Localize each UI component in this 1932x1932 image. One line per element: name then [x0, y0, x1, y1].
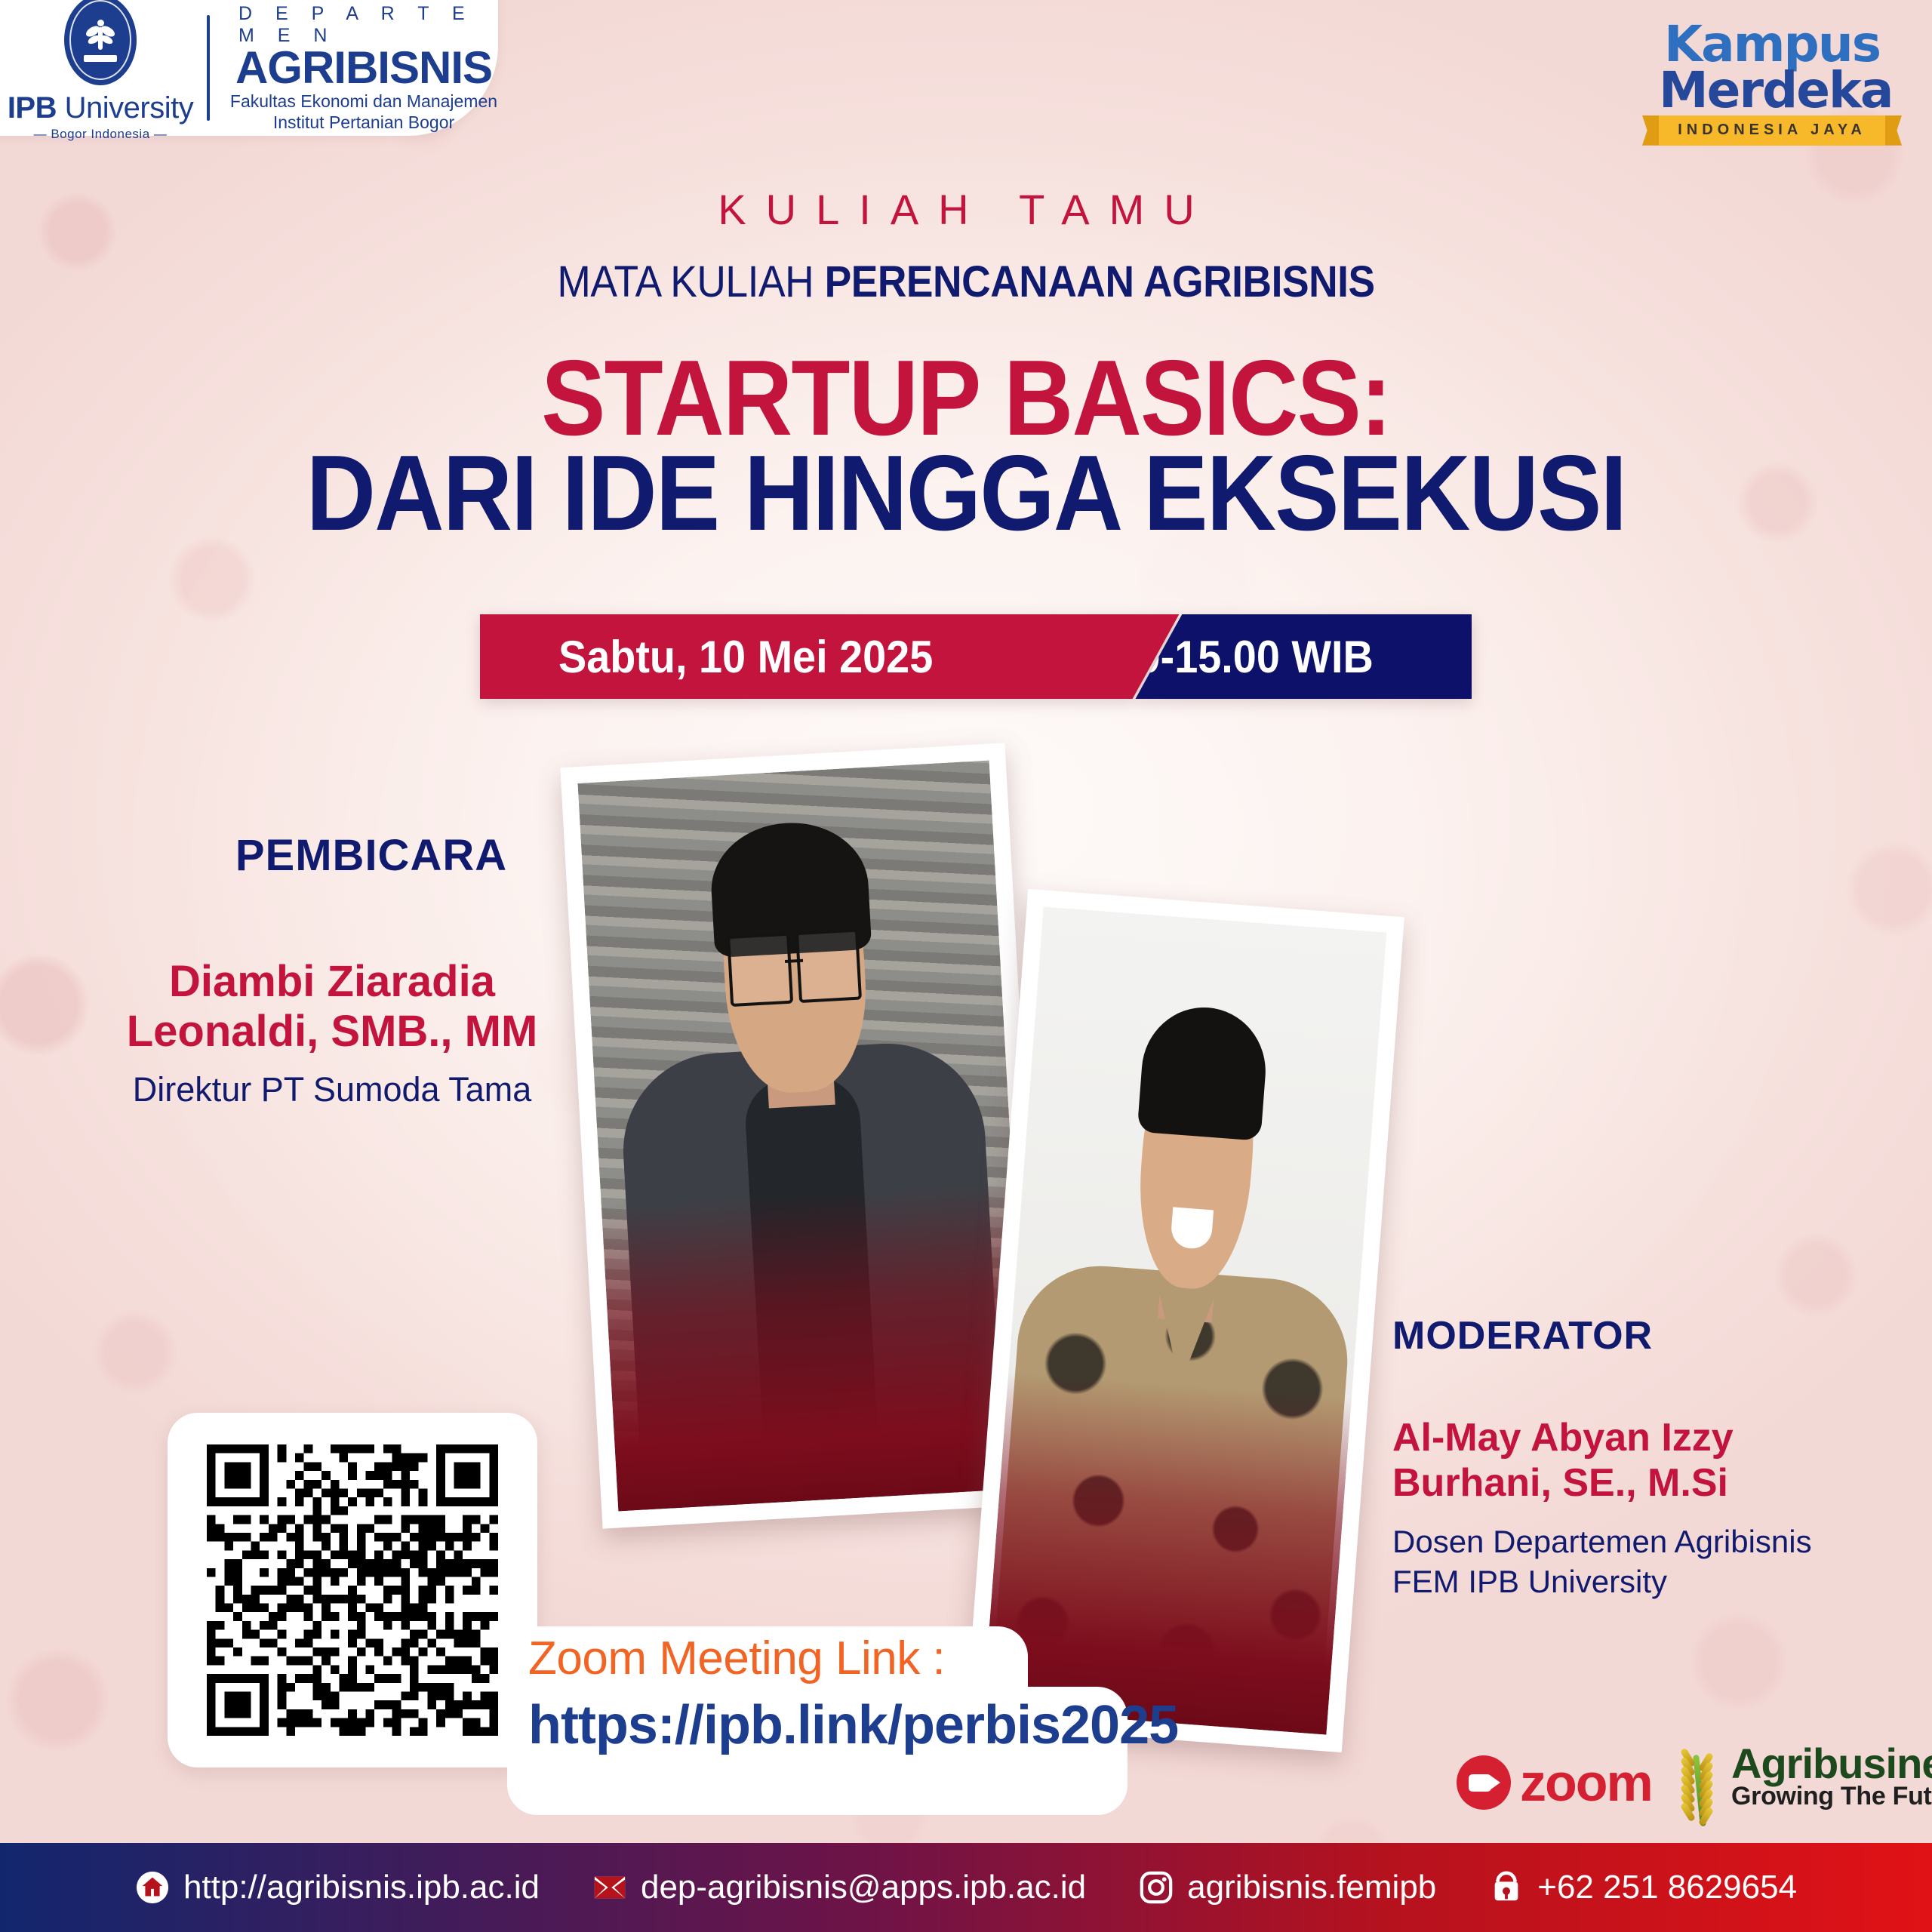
footer-website[interactable]: http://agribisnis.ipb.ac.id: [135, 1869, 540, 1906]
agribusiness-tagline: Growing The Future: [1731, 1783, 1932, 1809]
home-icon: [135, 1870, 170, 1905]
department-title: AGRIBISNIS: [235, 45, 492, 91]
ipb-name: IPB University: [8, 91, 193, 125]
speaker-photo-frame: [560, 743, 1047, 1528]
mail-icon: [592, 1870, 627, 1905]
agribusiness-logo: Agribusiness Growing The Future: [1674, 1743, 1932, 1826]
ipb-seal-icon: [64, 0, 137, 85]
kampus-merdeka-line2: Merdeka: [1659, 67, 1885, 113]
department-institute: Institut Pertanian Bogor: [273, 112, 454, 133]
speaker-name: Diambi ZiaradiaLeonaldi, SMB., MM: [91, 957, 574, 1056]
footer-contact-bar: http://agribisnis.ipb.ac.id dep-agribisn…: [0, 1843, 1932, 1932]
zoom-link-url[interactable]: https://ipb.link/perbis2025: [528, 1694, 1178, 1756]
ipb-university-logo: IPB University — Bogor Indonesia —: [14, 0, 187, 142]
event-kicker: KULIAH TAMU: [0, 185, 1932, 234]
zoom-wordmark: zoom: [1520, 1752, 1652, 1813]
speaker-photo: [577, 761, 1029, 1512]
zoom-link-label: Zoom Meeting Link :: [528, 1632, 945, 1685]
footer-phone[interactable]: +62 251 8629654: [1489, 1869, 1797, 1906]
schedule-date: Sabtu, 10 Mei 2025: [558, 631, 933, 683]
footer-email[interactable]: dep-agribisnis@apps.ipb.ac.id: [592, 1869, 1086, 1906]
ipb-subtitle: — Bogor Indonesia —: [34, 127, 168, 142]
department-faculty: Fakultas Ekonomi dan Manajemen: [230, 91, 497, 112]
kampus-merdeka-ribbon: INDONESIA JAYA: [1659, 115, 1885, 146]
zoom-logo: zoom: [1457, 1752, 1652, 1813]
moderator-label: MODERATOR: [1392, 1313, 1815, 1358]
speaker-role: Direktur PT Sumoda Tama: [91, 1070, 574, 1109]
kampus-merdeka-line1: Kampus: [1659, 21, 1885, 67]
footer-instagram[interactable]: agribisnis.femipb: [1139, 1869, 1436, 1906]
agribusiness-title: Agribusiness: [1731, 1743, 1932, 1783]
moderator-photo-frame: [965, 889, 1404, 1752]
department-logo: D E P A R T E M E N AGRIBISNIS Fakultas …: [229, 3, 498, 133]
moderator-photo: [983, 906, 1387, 1734]
kampus-merdeka-logo: Kampus Merdeka INDONESIA JAYA: [1659, 21, 1885, 146]
qr-code-icon[interactable]: [207, 1444, 498, 1736]
moderator-role: Dosen Departemen AgribisnisFEM IPB Unive…: [1392, 1522, 1875, 1602]
schedule-banner: Sabtu, 10 Mei 2025 13.00-15.00 WIB: [480, 614, 1472, 699]
poster-canvas: IPB University — Bogor Indonesia — D E P…: [0, 0, 1932, 1932]
header-panel: IPB University — Bogor Indonesia — D E P…: [0, 0, 498, 136]
phone-icon: [1489, 1870, 1524, 1905]
speaker-label: PEMBICARA: [175, 830, 568, 881]
course-line: MATA KULIAH PERENCANAAN AGRIBISNIS: [77, 257, 1854, 307]
moderator-name: Al-May Abyan IzzyBurhani, SE., M.Si: [1392, 1415, 1860, 1506]
department-kicker: D E P A R T E M E N: [229, 3, 498, 47]
instagram-icon: [1139, 1870, 1174, 1905]
wheat-icon: [1674, 1743, 1727, 1826]
header-divider: [207, 15, 210, 121]
zoom-camera-icon: [1457, 1755, 1511, 1810]
qr-code-card[interactable]: [168, 1413, 537, 1767]
headline-line2: DARI IDE HINGGA EKSEKUSI: [97, 444, 1835, 543]
